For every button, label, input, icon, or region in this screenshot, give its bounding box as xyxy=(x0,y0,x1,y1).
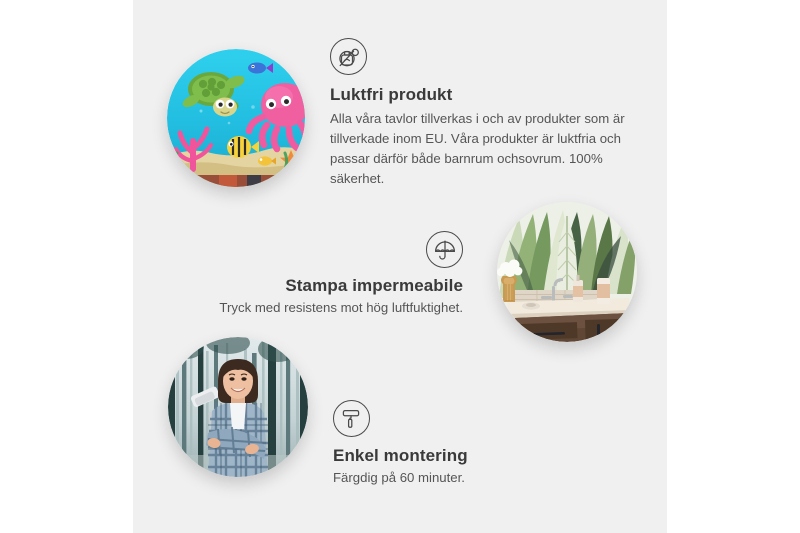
photo-bathroom-tropical-wallpaper xyxy=(497,202,637,342)
feature-description: Alla våra tavlor tillverkas i och av pro… xyxy=(330,109,628,189)
sea-life-illustration xyxy=(167,49,305,187)
photo-sea-life-mural xyxy=(167,49,305,187)
bathroom-illustration xyxy=(497,202,637,342)
feature-waterproof-print: Stampa impermeabile Tryck med resistens … xyxy=(180,231,463,318)
feature-title: Luktfri produkt xyxy=(330,84,628,105)
photo-forest-clip xyxy=(168,337,308,477)
paint-roller-icon xyxy=(333,400,370,437)
photo-sea-life-clip xyxy=(167,49,305,187)
feature-easy-mounting: Enkel montering Färgdig på 60 minuter. xyxy=(333,400,613,488)
feature-title: Enkel montering xyxy=(333,445,613,466)
feature-odour-free: Luktfri produkt Alla våra tavlor tillver… xyxy=(330,38,628,190)
feature-description: Tryck med resistens mot hög luftfuktighe… xyxy=(180,298,463,318)
promo-banner: Luktfri produkt Alla våra tavlor tillver… xyxy=(0,0,800,533)
umbrella-icon xyxy=(426,231,463,268)
photo-forest-decorator xyxy=(168,337,308,477)
feature-description: Färgdig på 60 minuter. xyxy=(333,468,613,488)
forest-decorator-illustration xyxy=(168,337,308,477)
no-fragrance-icon xyxy=(330,38,367,75)
feature-title: Stampa impermeabile xyxy=(180,275,463,296)
photo-bathroom-clip xyxy=(497,202,637,342)
